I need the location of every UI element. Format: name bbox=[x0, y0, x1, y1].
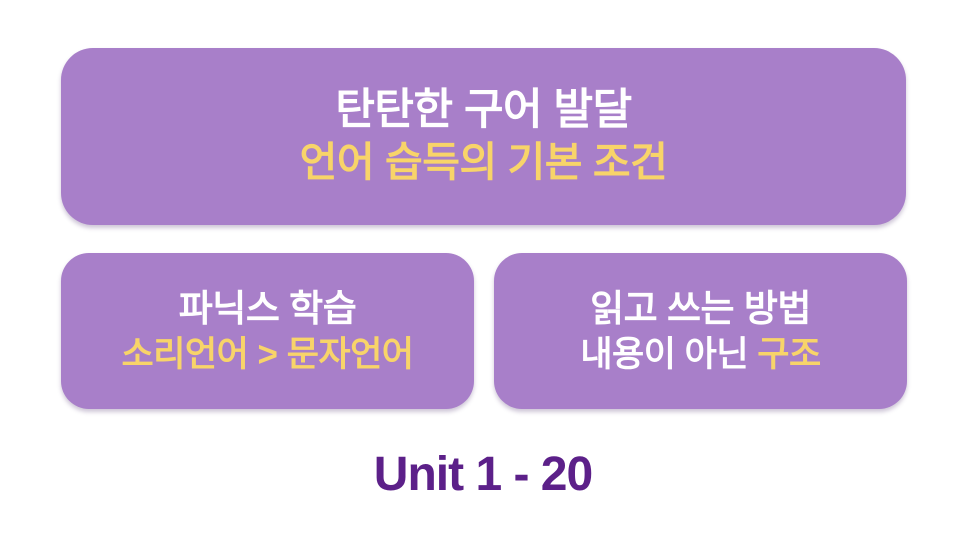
literacy-card-title: 읽고 쓰는 방법 bbox=[590, 289, 811, 328]
unit-range-label: Unit 1 - 20 bbox=[0, 447, 966, 502]
main-concept-card[interactable]: 탄탄한 구어 발달 언어 습득의 기본 조건 bbox=[61, 48, 906, 225]
literacy-card-subtitle-accent: 구조 bbox=[757, 335, 820, 374]
phonics-card-subtitle-accent: 소리언어 > 문자언어 bbox=[122, 335, 414, 374]
slide-canvas: 탄탄한 구어 발달 언어 습득의 기본 조건 파닉스 학습 소리언어 > 문자언… bbox=[0, 0, 966, 543]
literacy-card[interactable]: 읽고 쓰는 방법 내용이 아닌 구조 bbox=[494, 253, 907, 409]
main-card-subtitle: 언어 습득의 기본 조건 bbox=[300, 141, 668, 184]
phonics-card-subtitle: 소리언어 > 문자언어 bbox=[122, 336, 414, 373]
literacy-card-subtitle: 내용이 아닌 구조 bbox=[580, 336, 820, 373]
phonics-card[interactable]: 파닉스 학습 소리언어 > 문자언어 bbox=[61, 253, 474, 409]
main-card-title: 탄탄한 구어 발달 bbox=[335, 88, 631, 134]
phonics-card-title: 파닉스 학습 bbox=[179, 289, 356, 328]
literacy-card-subtitle-white: 내용이 아닌 bbox=[580, 335, 757, 374]
